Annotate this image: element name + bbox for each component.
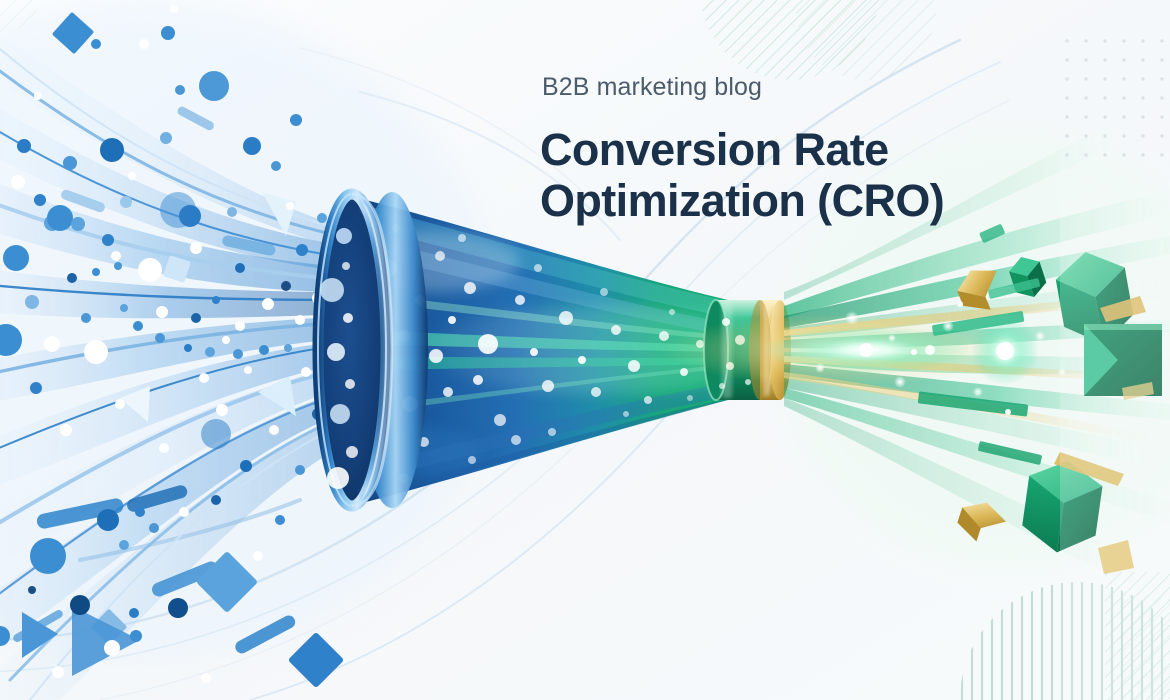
hero-illustration: B2B marketing blog Conversion Rate Optim… <box>0 0 1170 700</box>
funnel-artwork <box>0 0 1170 700</box>
funnel-mouth-ring <box>318 192 428 508</box>
